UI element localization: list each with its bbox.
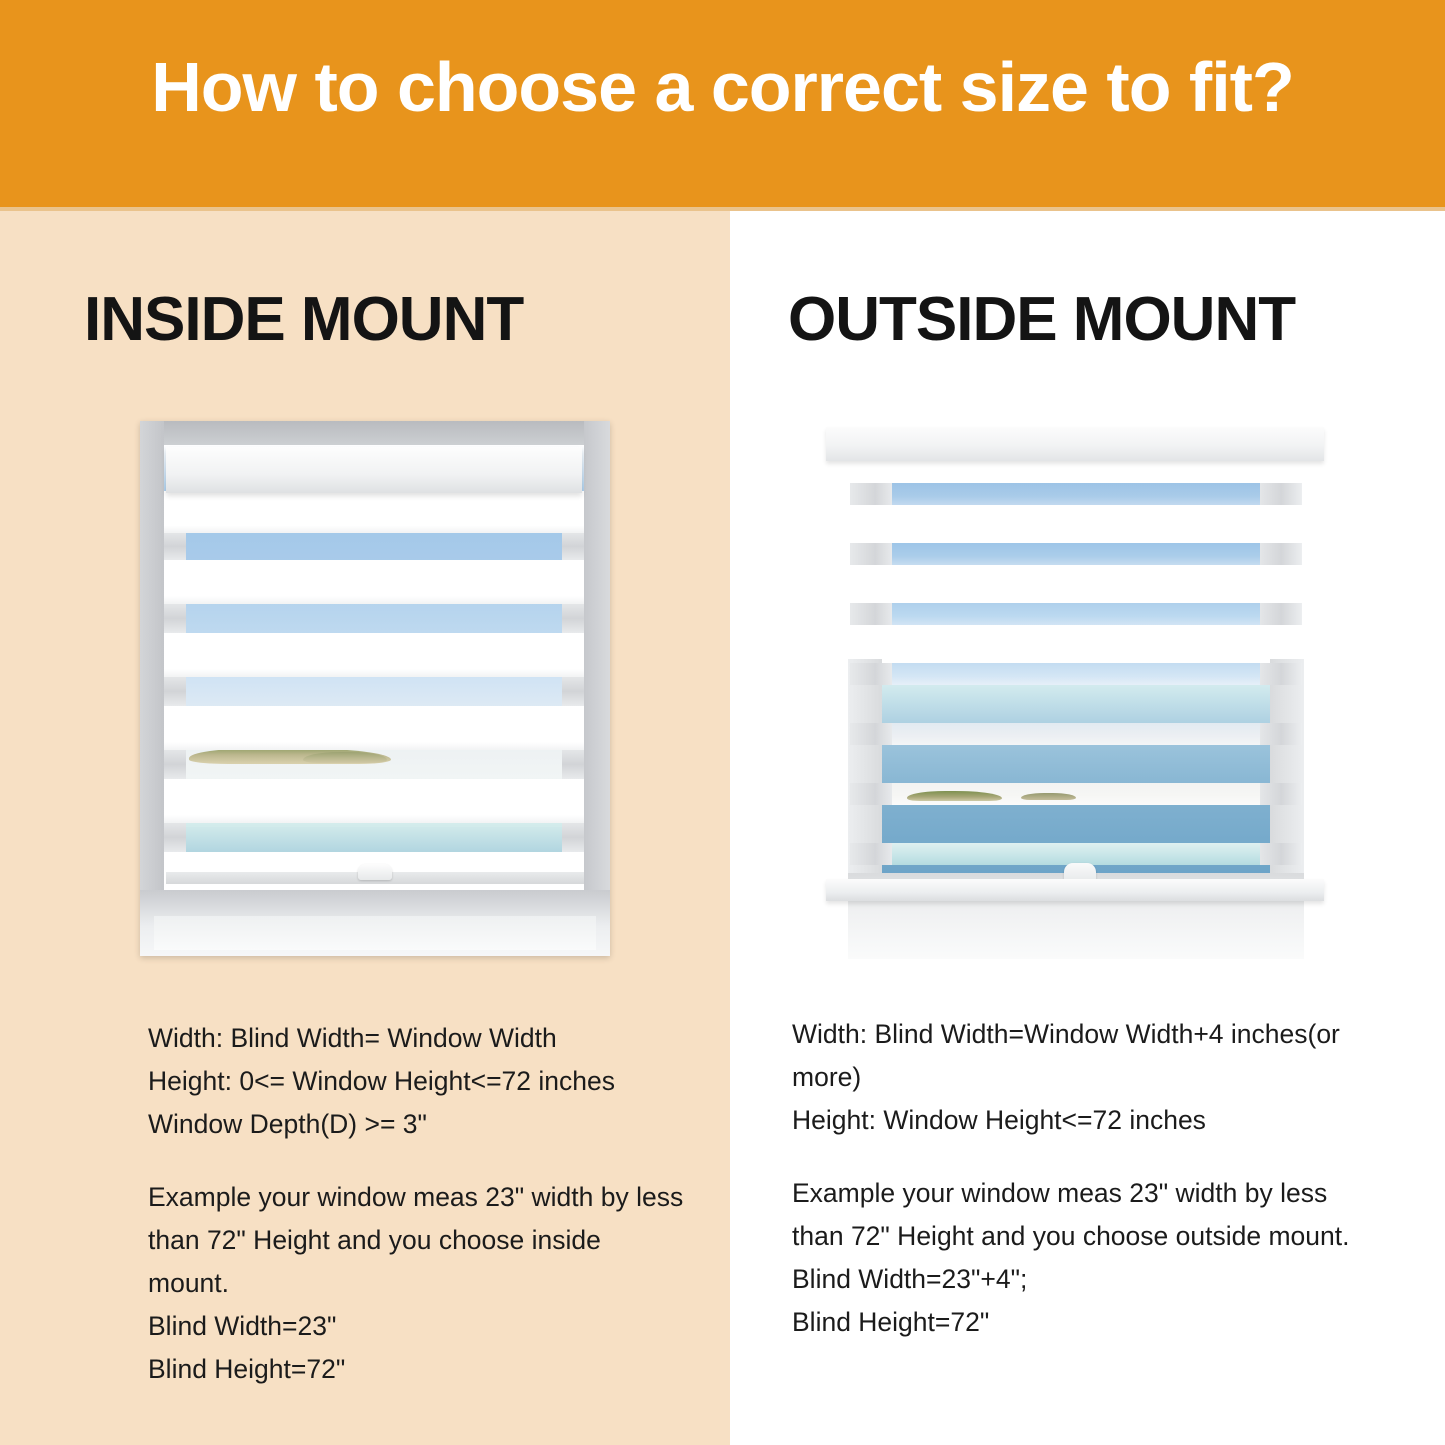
blind-side-tab-left bbox=[164, 750, 186, 779]
blind-sheer-strip bbox=[892, 543, 1260, 565]
blind-side-tab-left bbox=[850, 843, 896, 865]
outside-mount-window-illustration bbox=[820, 421, 1340, 961]
inside-mount-window-illustration bbox=[140, 421, 610, 956]
inside-mount-panel: INSIDE MOUNT bbox=[0, 211, 730, 1445]
blind-sheer-strip bbox=[892, 783, 1260, 805]
outside-rule-width: Width: Blind Width=Window Width+4 inches… bbox=[792, 1013, 1352, 1099]
blind-side-tab-right bbox=[1256, 723, 1302, 745]
blind-slat bbox=[850, 843, 1302, 865]
blind-opaque-band bbox=[164, 779, 584, 823]
blind-headrail bbox=[166, 447, 582, 493]
blind-side-tab-right bbox=[562, 823, 584, 852]
outside-example-intro: Example your window meas 23" width by le… bbox=[792, 1172, 1352, 1258]
outdoor-island-view-secondary bbox=[303, 752, 387, 763]
inside-rule-depth: Window Depth(D) >= 3" bbox=[148, 1103, 688, 1146]
outside-mount-copy: Width: Blind Width=Window Width+4 inches… bbox=[792, 1013, 1352, 1344]
outside-mount-panel: OUTSIDE MOUNT bbox=[730, 211, 1445, 1445]
copy-spacer bbox=[148, 1146, 688, 1176]
blind-side-tab-left bbox=[164, 533, 186, 560]
outdoor-island-view-secondary bbox=[1021, 793, 1076, 800]
blind-side-tab-right bbox=[562, 604, 584, 633]
size-guide-infographic: How to choose a correct size to fit? INS… bbox=[0, 0, 1445, 1445]
blind-sheer-strip bbox=[892, 603, 1260, 625]
inside-example-height: Blind Height=72" bbox=[148, 1348, 688, 1391]
inside-mount-heading: INSIDE MOUNT bbox=[84, 284, 523, 355]
blind-opaque-band bbox=[164, 633, 584, 677]
window-reveal-left bbox=[140, 421, 164, 956]
blind-slat bbox=[850, 543, 1302, 565]
outside-mount-heading: OUTSIDE MOUNT bbox=[788, 284, 1295, 355]
blind-side-tab-right bbox=[562, 533, 584, 560]
outdoor-island-view bbox=[907, 791, 1003, 801]
blind-side-tab-right bbox=[562, 750, 584, 779]
blind-side-tab-left bbox=[850, 723, 896, 745]
blind-slat bbox=[850, 783, 1302, 805]
outside-rule-height: Height: Window Height<=72 inches bbox=[792, 1099, 1352, 1142]
window-sill bbox=[154, 916, 596, 950]
blind-side-tab-right bbox=[562, 677, 584, 706]
page-title: How to choose a correct size to fit? bbox=[0, 52, 1445, 122]
blind-side-tab-left bbox=[850, 603, 896, 625]
blind-side-tab-right bbox=[1256, 663, 1302, 685]
inside-example-intro: Example your window meas 23" width by le… bbox=[148, 1176, 688, 1305]
blind-side-tab-left bbox=[164, 823, 186, 852]
blind-side-tab-right bbox=[1256, 543, 1302, 565]
blind-headrail bbox=[826, 427, 1324, 461]
blind-side-tab-right bbox=[1256, 603, 1302, 625]
window-opening bbox=[164, 445, 584, 900]
blind-side-tab-left bbox=[850, 543, 896, 565]
blind-side-tab-left bbox=[850, 783, 896, 805]
blind-slat bbox=[850, 603, 1302, 625]
outside-example-height: Blind Height=72" bbox=[792, 1301, 1352, 1344]
blind-opaque-band bbox=[164, 706, 584, 750]
blind-pull-handle bbox=[358, 864, 392, 880]
blind-side-tab-left bbox=[850, 663, 896, 685]
copy-spacer bbox=[792, 1142, 1352, 1172]
blind-slat bbox=[850, 723, 1302, 745]
blind-bottom-rail bbox=[826, 879, 1324, 901]
inside-rule-width: Width: Blind Width= Window Width bbox=[148, 1017, 688, 1060]
outside-example-width: Blind Width=23"+4"; bbox=[792, 1258, 1352, 1301]
blind-side-tab-right bbox=[1256, 783, 1302, 805]
inside-rule-height: Height: 0<= Window Height<=72 inches bbox=[148, 1060, 688, 1103]
blind-opaque-band bbox=[164, 491, 584, 533]
blind-side-tab-left bbox=[164, 604, 186, 633]
blind-sheer-strip bbox=[892, 723, 1260, 745]
blind-side-tab-left bbox=[850, 483, 896, 505]
blind-sheer-strip bbox=[892, 483, 1260, 505]
blind-slat bbox=[850, 663, 1302, 685]
blind-side-tab-right bbox=[1256, 483, 1302, 505]
blind-opaque-band bbox=[164, 560, 584, 604]
inside-mount-copy: Width: Blind Width= Window Width Height:… bbox=[148, 1017, 688, 1391]
blind-sheer-strip bbox=[892, 843, 1260, 865]
window-reveal-right bbox=[584, 421, 610, 956]
window-reveal-top bbox=[140, 421, 610, 445]
blind-side-tab-left bbox=[164, 677, 186, 706]
blind-slat bbox=[850, 483, 1302, 505]
inside-example-width: Blind Width=23" bbox=[148, 1305, 688, 1348]
blind-side-tab-right bbox=[1256, 843, 1302, 865]
blind-sheer-strip bbox=[892, 663, 1260, 685]
